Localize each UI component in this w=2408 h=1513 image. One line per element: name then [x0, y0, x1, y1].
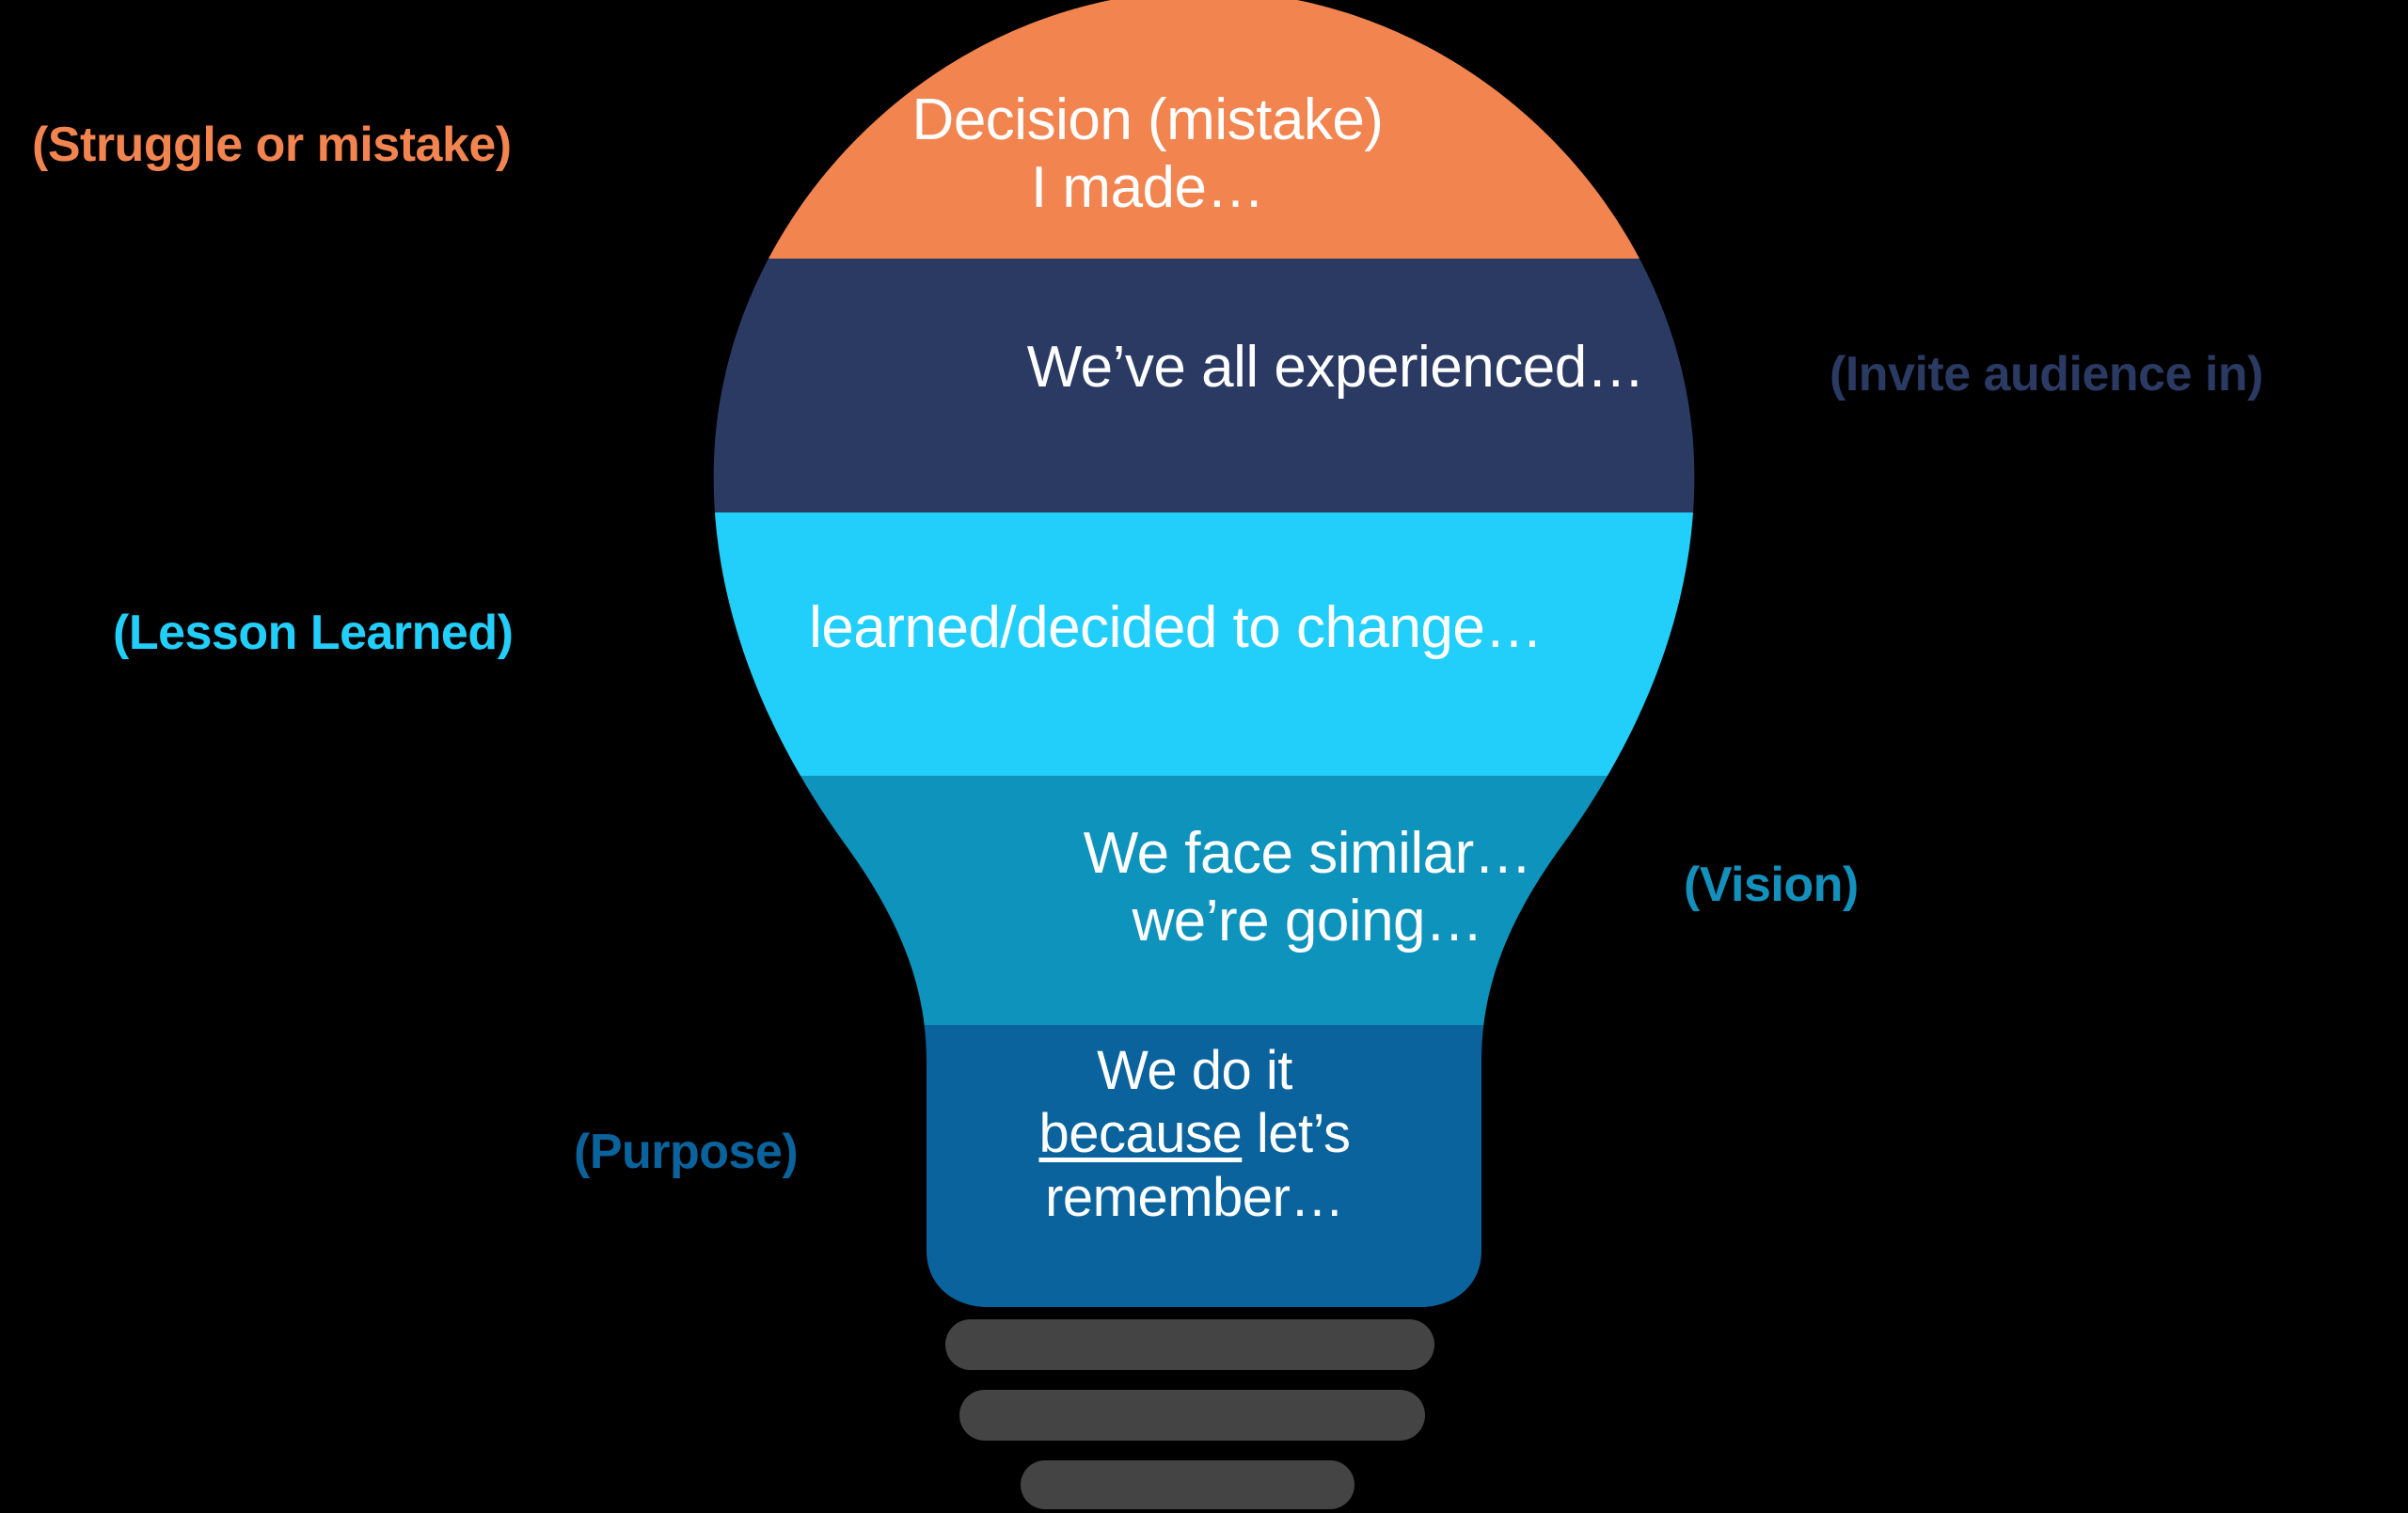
side-label-invite-audience-in: (Invite audience in) [1830, 348, 2263, 402]
side-label-struggle-or-mistake: (Struggle or mistake) [32, 118, 512, 172]
segment-text-vision: We face similar… we’re going… [950, 820, 1665, 955]
segment-text-lesson: learned/decided to change… [696, 594, 1655, 662]
screw-base-bar-1 [945, 1319, 1434, 1370]
segment-text-purpose-because: because [1038, 1103, 1242, 1164]
segment-text-decision: Decision (mistake) I made… [715, 87, 1580, 222]
segment-text-invite: We’ve all experienced… [922, 334, 1750, 402]
screw-base-bar-3 [1021, 1460, 1354, 1509]
segment-text-purpose: We do it because let’s remember… [950, 1039, 1439, 1229]
screw-base-bar-2 [959, 1390, 1425, 1441]
side-label-purpose: (Purpose) [574, 1126, 798, 1179]
lightbulb-graphic [0, 0, 2408, 1513]
side-label-vision: (Vision) [1684, 859, 1859, 912]
segment-text-purpose-part1: We do it [1097, 1040, 1292, 1101]
side-label-lesson-learned: (Lesson Learned) [113, 607, 513, 660]
diagram-canvas: Decision (mistake) I made… We’ve all exp… [0, 0, 2408, 1513]
